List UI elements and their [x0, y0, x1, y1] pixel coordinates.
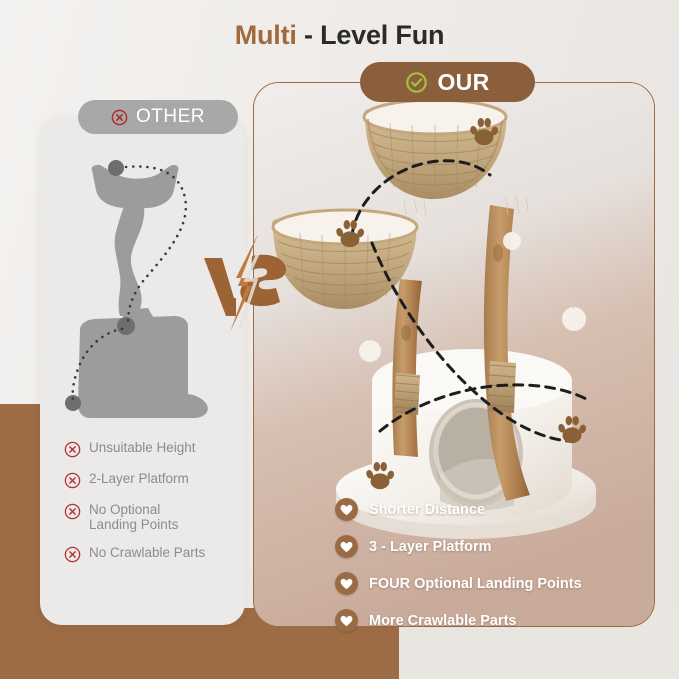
page-title: Multi - Level Fun: [0, 20, 679, 51]
other-badge-label: OTHER: [136, 106, 205, 128]
circle-check-icon: [405, 71, 428, 94]
page-title-accent: Multi: [235, 20, 297, 50]
list-item: 3 - Layer Platform: [335, 535, 655, 558]
our-badge: OUR: [360, 62, 535, 102]
page-title-rest: - Level Fun: [297, 20, 445, 50]
circle-x-icon: [64, 472, 81, 489]
list-item-label: Shorter Distance: [369, 502, 485, 518]
list-item-label: 3 - Layer Platform: [369, 539, 492, 555]
heart-icon: [335, 572, 358, 595]
circle-x-icon: [64, 503, 81, 520]
list-item: Shorter Distance: [335, 498, 655, 521]
other-badge: OTHER: [78, 100, 238, 134]
list-item: No Optional Landing Points: [64, 502, 244, 532]
list-item-label: FOUR Optional Landing Points: [369, 576, 582, 592]
our-badge-label: OUR: [437, 69, 489, 96]
heart-icon: [335, 609, 358, 632]
list-item: 2-Layer Platform: [64, 471, 244, 489]
vs-divider: [196, 232, 301, 337]
list-item: Unsuitable Height: [64, 440, 244, 458]
list-item-label: More Crawlable Parts: [369, 613, 516, 629]
list-item: FOUR Optional Landing Points: [335, 572, 655, 595]
list-item-label: Unsuitable Height: [89, 440, 196, 455]
circle-x-icon: [64, 546, 81, 563]
list-item: More Crawlable Parts: [335, 609, 655, 632]
infographic-stage: Multi - Level Fun OTHER: [0, 0, 679, 679]
other-feature-list: Unsuitable Height 2-Layer Platform No Op…: [64, 440, 244, 576]
our-feature-list: Shorter Distance 3 - Layer Platform FOUR…: [335, 498, 655, 646]
circle-x-icon: [64, 441, 81, 458]
list-item: No Crawlable Parts: [64, 545, 244, 563]
list-item-label: 2-Layer Platform: [89, 471, 189, 486]
heart-icon: [335, 535, 358, 558]
circle-x-icon: [111, 109, 128, 126]
heart-icon: [335, 498, 358, 521]
list-item-label: No Optional Landing Points: [89, 502, 178, 532]
list-item-label: No Crawlable Parts: [89, 545, 205, 560]
